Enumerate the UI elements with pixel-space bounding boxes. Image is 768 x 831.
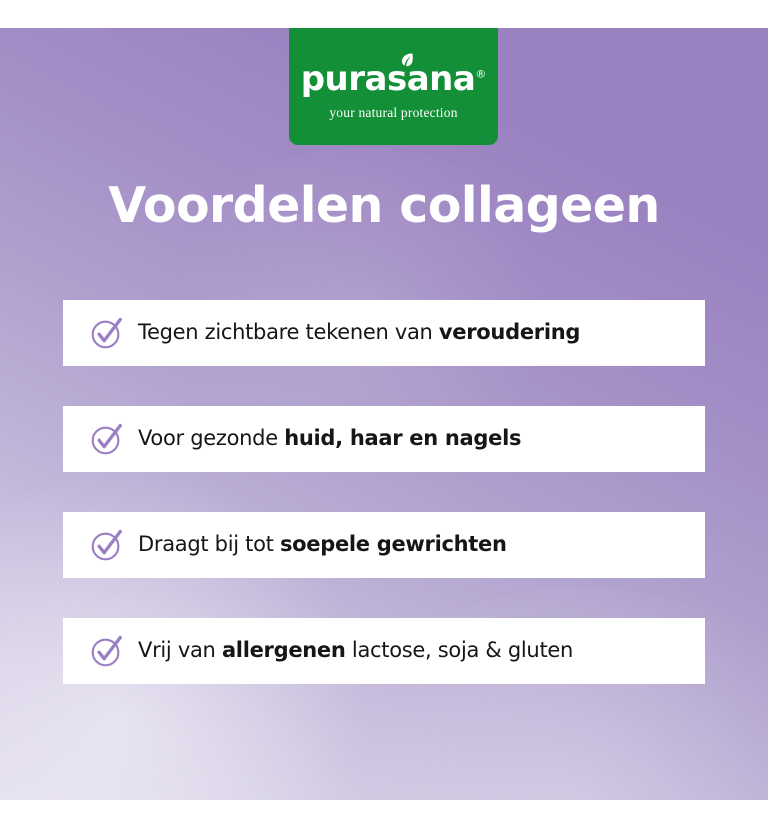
promo-poster: purasana® your natural protection Voorde… (0, 0, 768, 831)
list-item-text-before: Tegen zichtbare tekenen van (138, 320, 439, 344)
list-item-text-bold: huid, haar en nagels (284, 426, 521, 450)
page-title: Voordelen collageen (0, 180, 768, 233)
list-item-text-after: lactose, soja & gluten (346, 638, 573, 662)
list-item-text-bold: soepele gewrichten (280, 532, 507, 556)
list-item: Vrij van allergenen lactose, soja & glut… (63, 618, 705, 684)
list-item-label: Draagt bij tot soepele gewrichten (138, 532, 507, 557)
list-item-text-before: Voor gezonde (138, 426, 284, 450)
brand-wordmark: purasana® (301, 62, 487, 96)
list-item-label: Vrij van allergenen lactose, soja & glut… (138, 638, 573, 663)
list-item-label: Tegen zichtbare tekenen van veroudering (138, 320, 580, 345)
list-item-text-before: Vrij van (138, 638, 222, 662)
bottom-white-band (0, 800, 768, 831)
list-item: Tegen zichtbare tekenen van veroudering (63, 300, 705, 366)
check-circle-icon (90, 635, 123, 668)
check-circle-icon (90, 317, 123, 350)
brand-wordmark-text: purasana (301, 59, 476, 99)
check-circle-icon (90, 529, 123, 562)
list-item: Draagt bij tot soepele gewrichten (63, 512, 705, 578)
leaf-icon (400, 53, 413, 68)
brand-logo: purasana® your natural protection (289, 28, 498, 145)
top-white-band (0, 0, 768, 28)
list-item-text-bold: veroudering (439, 320, 580, 344)
list-item-label: Voor gezonde huid, haar en nagels (138, 426, 521, 451)
benefits-list: Tegen zichtbare tekenen van veroudering … (63, 300, 705, 724)
list-item-text-bold: allergenen (222, 638, 346, 662)
registered-trademark-symbol: ® (475, 68, 486, 81)
list-item: Voor gezonde huid, haar en nagels (63, 406, 705, 472)
check-circle-icon (90, 423, 123, 456)
brand-tagline: your natural protection (329, 105, 457, 121)
list-item-text-before: Draagt bij tot (138, 532, 280, 556)
